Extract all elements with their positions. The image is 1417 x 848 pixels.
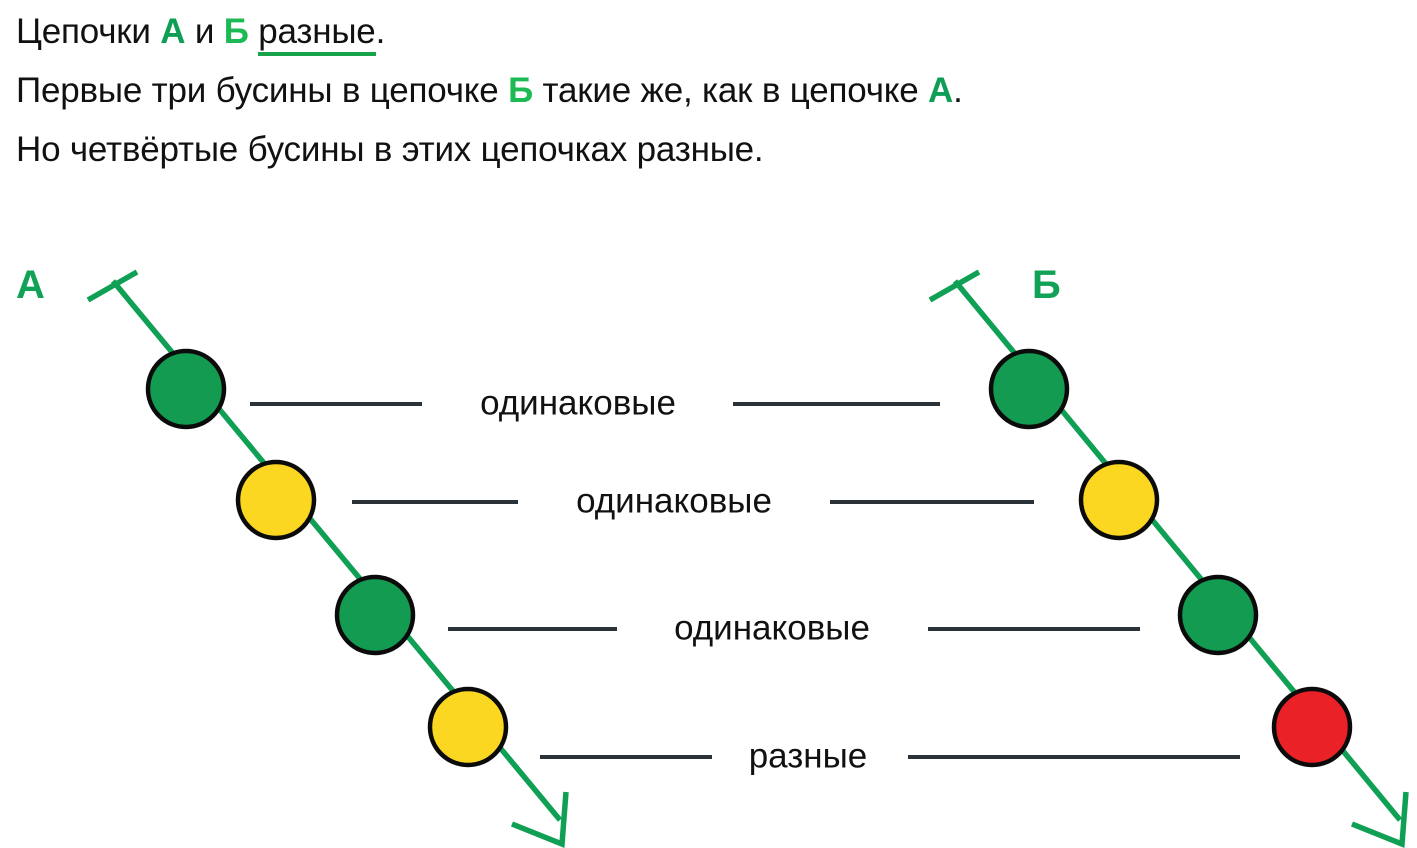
chain-b-bead-1-green [991, 351, 1067, 427]
rung-4-label: разные [749, 736, 868, 775]
chain-a-bead-3-green [337, 577, 413, 653]
chain-b-start-tick-icon [930, 272, 979, 300]
diagram-page: Цепочки А и Б разные. Первые три бусины … [0, 0, 1417, 848]
chain-b-letter-label: Б [1032, 263, 1061, 307]
rung-1-group: одинаковые [250, 383, 940, 422]
chain-a-bead-2-yellow [238, 462, 314, 538]
rung-2-group: одинаковые [352, 481, 1034, 520]
chain-b-bead-4-red [1274, 689, 1350, 765]
rung-1-label: одинаковые [480, 383, 676, 422]
chain-a-bead-4-yellow [430, 689, 506, 765]
chain-b-bead-3-green [1180, 577, 1256, 653]
chain-a-letter-label: А [16, 263, 45, 307]
rung-2-label: одинаковые [576, 481, 772, 520]
bead-chains-diagram: одинаковыеодинаковыеодинаковыеразныеАБ [0, 0, 1417, 848]
chain-a-group: А [16, 263, 566, 844]
rung-3-group: одинаковые [448, 608, 1140, 647]
chain-b-bead-2-yellow [1081, 462, 1157, 538]
chain-a-start-tick-icon [88, 272, 137, 300]
chain-a-bead-1-green [148, 351, 224, 427]
rung-3-label: одинаковые [674, 608, 870, 647]
rung-4-group: разные [540, 736, 1240, 775]
